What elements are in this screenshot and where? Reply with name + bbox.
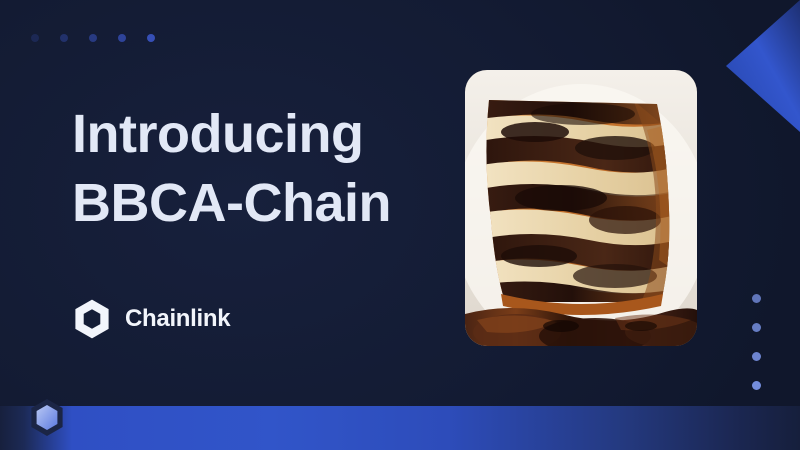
decor-dot [752, 352, 761, 361]
chevron-wedge-decoration [704, 0, 800, 132]
decor-dot [89, 34, 97, 42]
decor-dot [752, 381, 761, 390]
chainlink-hexagon-icon [73, 298, 111, 340]
decor-dot [118, 34, 126, 42]
slide-canvas: Introducing BBCA-Chain Chainlink [0, 0, 800, 450]
decor-dot [147, 34, 155, 42]
decor-dot [60, 34, 68, 42]
babka-photo-art [465, 70, 697, 346]
headline-title: Introducing BBCA-Chain [72, 100, 472, 238]
hexagon-glyph-icon [30, 398, 64, 437]
decor-dot [31, 34, 39, 42]
bottom-accent-band [0, 406, 800, 450]
decor-dot [752, 323, 761, 332]
brand-lockup: Chainlink [73, 298, 230, 340]
feature-photo [465, 70, 697, 346]
decorative-dot-row-top [31, 34, 155, 42]
decor-dot [752, 294, 761, 303]
brand-wordmark: Chainlink [125, 305, 230, 333]
decorative-dot-column-right [752, 294, 761, 419]
